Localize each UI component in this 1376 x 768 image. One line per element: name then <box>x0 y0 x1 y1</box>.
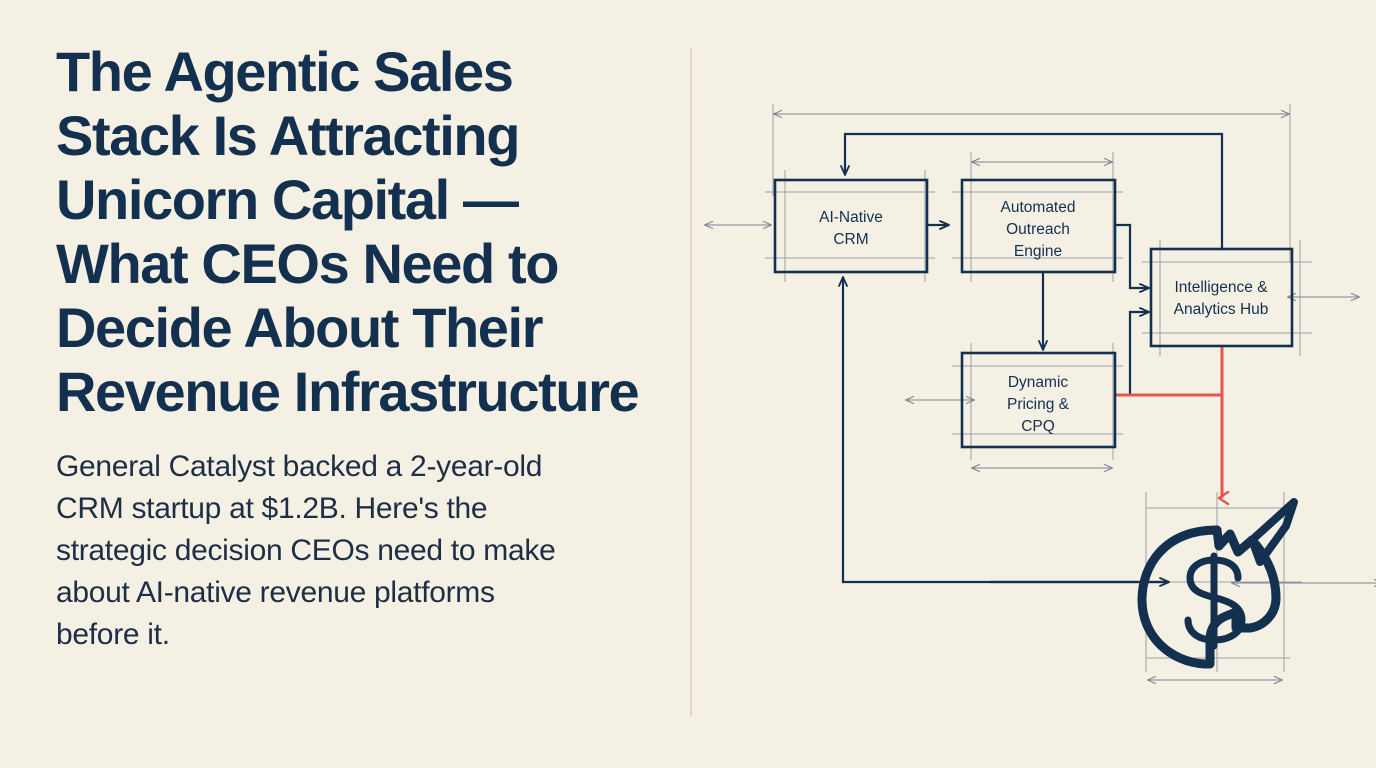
architecture-diagram: AI-Native CRM Automated Outreach Engine … <box>690 0 1376 768</box>
node-dynamic-pricing-cpq[interactable]: Dynamic Pricing & CPQ <box>962 353 1115 447</box>
node-label-line: Outreach <box>1006 221 1070 238</box>
node-intelligence-analytics-hub[interactable]: Intelligence & Analytics Hub <box>1151 249 1292 346</box>
node-label-line: Dynamic <box>1008 374 1069 391</box>
node-label-line: Pricing & <box>1007 396 1070 413</box>
node-box <box>1151 249 1292 346</box>
text-column: The Agentic Sales Stack Is Attracting Un… <box>56 40 666 656</box>
node-label-line: Automated <box>1001 199 1076 216</box>
node-label-line: Intelligence & <box>1174 279 1268 296</box>
node-label-line: Engine <box>1014 243 1062 260</box>
page-subtitle: General Catalyst backed a 2-year-old CRM… <box>56 446 666 656</box>
poster-canvas: The Agentic Sales Stack Is Attracting Un… <box>0 0 1376 768</box>
node-label-line: CRM <box>833 231 868 248</box>
node-label-line: CPQ <box>1021 418 1055 435</box>
page-title: The Agentic Sales Stack Is Attracting Un… <box>56 40 666 424</box>
node-label-line: Analytics Hub <box>1174 301 1269 318</box>
node-label-line: AI-Native <box>819 209 883 226</box>
